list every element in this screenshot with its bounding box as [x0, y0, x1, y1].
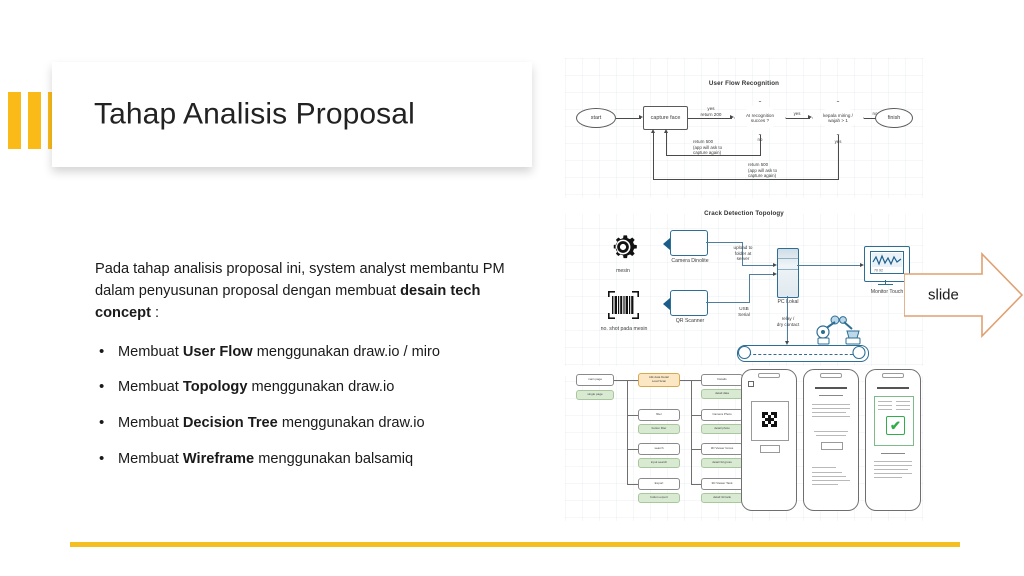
topology-label-barcode: no. shot pada mesin	[583, 326, 665, 332]
form-line	[874, 465, 912, 466]
content-column: Pada tahap analisis proposal ini, system…	[95, 258, 515, 485]
checkmark-icon: ✔	[886, 416, 905, 435]
topology-label-pc: PC Lokal	[768, 299, 808, 305]
tree-node: single page	[576, 390, 614, 400]
phone2-title	[815, 387, 847, 389]
detail-line	[896, 409, 910, 410]
list-item: Membuat Decision Tree menggunakan draw.i…	[95, 413, 515, 435]
pc-lokal-icon	[777, 248, 799, 298]
tree-edge	[691, 484, 701, 485]
topology-wire	[706, 242, 743, 243]
title-card: Tahap Analisis Proposal	[52, 62, 532, 167]
arrow-icon	[651, 129, 655, 133]
bullet-list: Membuat User Flow menggunakan draw.io / …	[95, 342, 515, 472]
userflow-title: User Flow Recognition	[565, 80, 923, 87]
svg-text:70 92: 70 92	[874, 269, 883, 273]
flow-edge	[666, 131, 667, 156]
tree-edge	[691, 449, 701, 450]
camera-dinolite-icon	[670, 230, 708, 256]
form-line	[812, 476, 846, 477]
topology-wire	[797, 265, 862, 266]
phone-screen	[808, 379, 854, 505]
flow-label-return500-b: return 500 (app will ask to capture agai…	[748, 162, 810, 179]
qr-code-icon	[762, 412, 777, 427]
flow-decision-1-text: AI recognition succes ?	[739, 113, 781, 124]
list-item: Membuat User Flow menggunakan draw.io / …	[95, 342, 515, 364]
wireframe-phone-2	[803, 369, 859, 511]
detail-line	[896, 401, 910, 402]
tree-node: filter	[638, 409, 680, 421]
tree-node: 3D Viewer Gross	[701, 443, 743, 455]
bullet-pre: Membuat	[118, 379, 183, 395]
tree-node-highlight: klik data Detail Load Scan	[638, 373, 680, 387]
form-line	[812, 484, 838, 485]
intro-paragraph: Pada tahap analisis proposal ini, system…	[95, 258, 515, 325]
tree-edge	[691, 380, 692, 484]
tree-node: input search	[638, 458, 680, 468]
gear-icon	[606, 230, 640, 264]
topology-wire	[742, 265, 775, 266]
waveform-icon: 70 92	[871, 252, 903, 273]
right-arrow-icon	[904, 252, 1024, 338]
bullet-pre: Membuat	[118, 451, 183, 467]
topology-label-upload: upload to folder at server	[717, 245, 769, 262]
form-line	[816, 435, 846, 436]
barcode-icon	[607, 290, 640, 320]
tree-node: button filter	[638, 424, 680, 434]
tree-node: Export	[638, 478, 680, 490]
qr-scanner-icon	[670, 290, 708, 316]
flow-label-yes2: yes	[829, 139, 847, 145]
flow-edge	[688, 118, 732, 119]
tree-node: search	[638, 443, 680, 455]
bullet-bold: Wireframe	[183, 451, 254, 467]
tree-node: main page	[576, 374, 614, 386]
bullet-post: menggunakan draw.io	[247, 379, 394, 395]
confirm-button[interactable]	[821, 442, 843, 450]
slide-callout-label: slide	[928, 287, 959, 304]
slide-canvas: Tahap Analisis Proposal Pada tahap anali…	[0, 0, 1024, 576]
flow-decision-2-text: kepala miring / wajah > 1	[817, 113, 859, 124]
camera-lens-icon	[663, 238, 670, 250]
monitor-screen: 70 92	[870, 251, 904, 274]
topology-wire	[749, 274, 775, 275]
menu-icon	[748, 381, 754, 387]
bullet-bold: Decision Tree	[183, 415, 278, 431]
list-item: Membuat Topology menggunakan draw.io	[95, 377, 515, 399]
wireframe-phone-3: ✔	[865, 369, 921, 511]
phone2-subtitle	[819, 395, 843, 396]
flow-edge	[653, 131, 654, 180]
tree-node: detail 3d gross	[701, 458, 743, 468]
accent-bar-2	[28, 92, 41, 149]
form-line	[812, 404, 850, 405]
tree-node: detail photo	[701, 424, 743, 434]
flow-node-decision-2: kepala miring / wajah > 1	[812, 101, 864, 135]
topology-label-relay: relay / dry contact	[765, 316, 811, 327]
tree-node: Details	[701, 374, 743, 386]
form-line	[812, 467, 836, 468]
detail-line	[878, 409, 892, 410]
monitor-base	[878, 284, 893, 285]
tree-edge	[614, 380, 628, 381]
flow-node-start: start	[576, 108, 616, 128]
tree-edge	[691, 380, 701, 381]
tree-edge	[627, 380, 628, 484]
form-line	[814, 431, 848, 432]
flow-label-return500-a: return 500 (app will ask to capture agai…	[693, 139, 755, 156]
phone-notch	[820, 373, 842, 378]
arrow-icon	[808, 115, 812, 119]
bullet-bold: Topology	[183, 379, 248, 395]
bullet-pre: Membuat	[118, 344, 183, 360]
topology-wire	[749, 274, 750, 302]
phone-notch	[758, 373, 780, 378]
topology-label-scanner: QR Scanner	[663, 318, 717, 324]
bullet-post: menggunakan balsamiq	[254, 451, 413, 467]
tree-edge	[691, 415, 701, 416]
wireframe-phone-1	[741, 369, 797, 511]
tree-node: detail data	[701, 389, 743, 399]
flow-label-yes1: yes	[787, 111, 807, 117]
intro-text-2: :	[151, 305, 159, 321]
flow-label-yes200: yes return 200	[691, 106, 731, 117]
bullet-post: menggunakan draw.io	[278, 415, 425, 431]
form-line	[812, 472, 842, 473]
phone-screen	[746, 379, 792, 505]
form-line	[874, 469, 908, 470]
form-line	[874, 461, 912, 462]
tree-node: Camera Photo	[701, 409, 743, 421]
flow-node-finish: finish	[875, 108, 913, 128]
scanner-lens-icon	[663, 298, 670, 310]
bullet-bold: User Flow	[183, 344, 253, 360]
topology-label-mesin: mesin	[593, 268, 653, 274]
flow-label-no1: no	[751, 137, 769, 143]
arrow-icon	[664, 129, 668, 133]
conveyor-rollers	[737, 345, 867, 360]
detail-line	[878, 401, 892, 402]
phone3-title	[877, 387, 909, 389]
flow-node-capture: capture face	[643, 106, 688, 130]
bottom-rule	[70, 542, 960, 547]
form-line	[812, 412, 846, 413]
robot-arm-icon	[838, 314, 872, 348]
flow-node-decision-1: AI recognition succes ?	[734, 101, 786, 135]
bullet-pre: Membuat	[118, 415, 183, 431]
flow-edge	[616, 118, 641, 119]
form-line	[874, 473, 912, 474]
topology-label-camera: Camera Dinolite	[661, 258, 719, 264]
topology-title: Crack Detection Topology	[565, 210, 923, 217]
flow-edge	[653, 179, 838, 180]
tree-node: 3D Viewer Tank	[701, 478, 743, 490]
page-title: Tahap Analisis Proposal	[94, 97, 415, 131]
form-line	[812, 480, 850, 481]
success-card: ✔	[874, 396, 914, 446]
diagram-panel: User Flow Recognition start capture face…	[565, 58, 923, 521]
phone-screen: ✔	[870, 379, 916, 505]
form-line	[812, 416, 850, 417]
detail-line	[896, 405, 910, 406]
form-line	[812, 408, 850, 409]
phone3-subtitle	[881, 453, 905, 454]
topology-wire	[706, 302, 750, 303]
tree-node: detail 3d tank	[701, 493, 743, 503]
bullet-post: menggunakan draw.io / miro	[253, 344, 440, 360]
form-line	[874, 477, 902, 478]
phone-notch	[882, 373, 904, 378]
flow-edge	[786, 118, 810, 119]
topology-label-usb: USB Serial	[725, 306, 763, 317]
scan-button[interactable]	[760, 445, 780, 453]
slide-callout: slide	[904, 252, 1024, 338]
accent-bar-1	[8, 92, 21, 149]
tree-node: button export	[638, 493, 680, 503]
detail-line	[878, 405, 892, 406]
list-item: Membuat Wireframe menggunakan balsamiq	[95, 449, 515, 471]
